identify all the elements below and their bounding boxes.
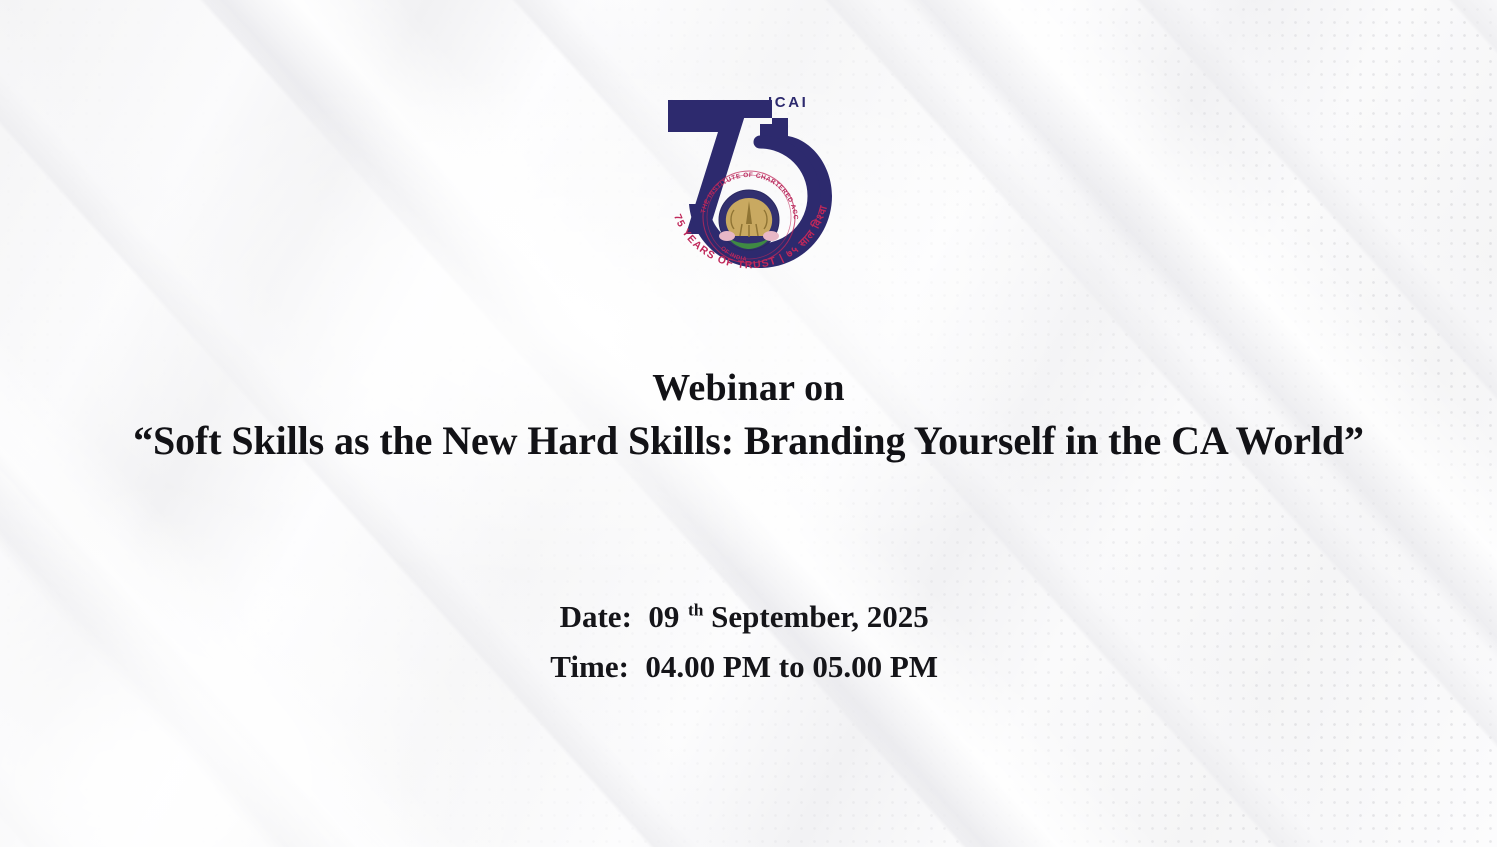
- date-month-year: September, 2025: [711, 599, 929, 634]
- date-day: 09: [648, 599, 679, 634]
- svg-text:ICAI: ICAI: [768, 94, 808, 111]
- time-label: Time:: [550, 649, 629, 684]
- webinar-eyebrow-text: Webinar on: [0, 368, 1497, 410]
- time-value: 04.00 PM to 05.00 PM: [645, 649, 938, 684]
- logo-container: ICAI THE INSTITUTE OF CHARTERED ACCOUNTA…: [0, 84, 1497, 290]
- icai-75-years-logo-icon: ICAI THE INSTITUTE OF CHARTERED ACCOUNTA…: [656, 84, 842, 290]
- webinar-announcement-slide: ICAI THE INSTITUTE OF CHARTERED ACCOUNTA…: [0, 0, 1497, 847]
- page-title: “Soft Skills as the New Hard Skills: Bra…: [0, 418, 1497, 464]
- event-date: Date: 09th September, 2025: [0, 598, 1497, 635]
- date-label: Date:: [560, 599, 632, 634]
- slide-content: ICAI THE INSTITUTE OF CHARTERED ACCOUNTA…: [0, 0, 1497, 847]
- date-ordinal-suffix: th: [688, 601, 703, 620]
- event-time: Time: 04.00 PM to 05.00 PM: [0, 648, 1497, 685]
